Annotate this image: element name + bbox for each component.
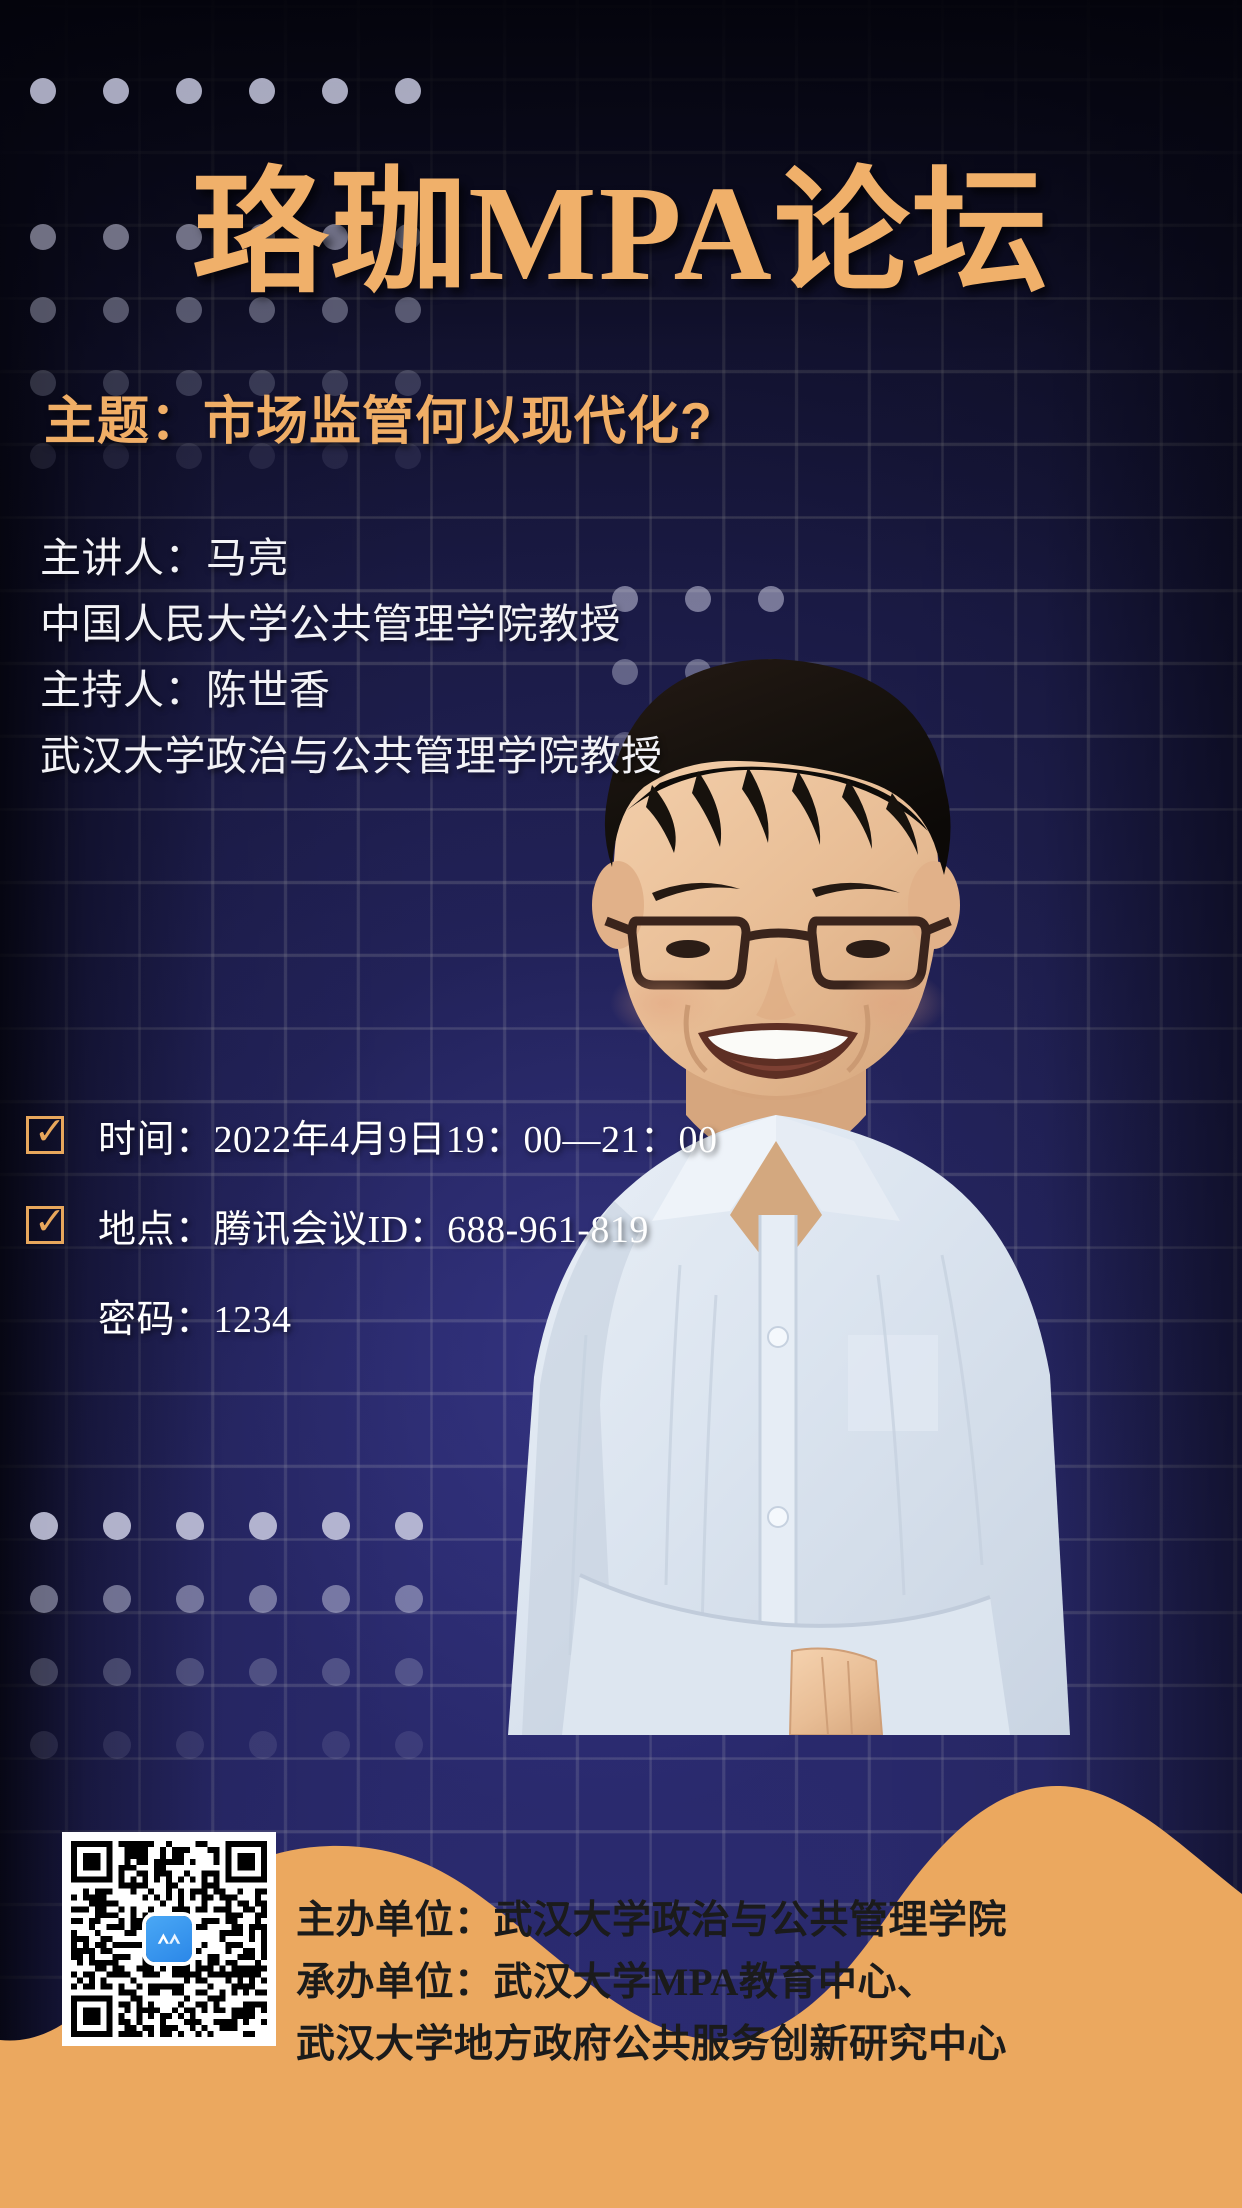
decorative-dot: [176, 78, 202, 104]
tencent-meeting-logo-icon: [146, 1916, 192, 1962]
detail-row-time: ✓ 时间：2022年4月9日19：00—21：00: [26, 1090, 718, 1180]
detail-password-text: 密码：1234: [98, 1288, 292, 1343]
check-mark-icon: ✓: [34, 1113, 66, 1151]
decorative-dot: [30, 78, 56, 104]
speaker-name-line: 主讲人：马亮: [40, 525, 663, 591]
detail-time-text: 时间：2022年4月9日19：00—21：00: [98, 1108, 718, 1163]
decorative-dot: [249, 1512, 277, 1540]
details-block: ✓ 时间：2022年4月9日19：00—21：00 ✓ 地点：腾讯会议ID：68…: [26, 1090, 718, 1360]
checkbox-checked-icon: ✓: [26, 1206, 64, 1244]
event-poster: 珞珈MPA论坛 主题：市场监管何以现代化? 主讲人：马亮 中国人民大学公共管理学…: [0, 0, 1242, 2208]
decorative-dot: [322, 78, 348, 104]
co-organizer-line-1: 承办单位：武汉大学MPA教育中心、: [296, 1952, 1196, 2014]
decorative-dot: [176, 1512, 204, 1540]
decorative-dot: [249, 78, 275, 104]
decorative-dot: [103, 78, 129, 104]
checkbox-checked-icon: ✓: [26, 1116, 64, 1154]
organizer-line: 主办单位：武汉大学政治与公共管理学院: [296, 1890, 1196, 1952]
checkbox-placeholder: [26, 1296, 64, 1334]
decorative-dot: [322, 1512, 350, 1540]
detail-location-text: 地点：腾讯会议ID：688-961-819: [98, 1198, 649, 1253]
speaker-affiliation-line: 中国人民大学公共管理学院教授: [40, 591, 663, 657]
check-mark-icon: ✓: [34, 1203, 66, 1241]
decorative-dot: [395, 78, 421, 104]
host-name-line: 主持人：陈世香: [40, 657, 663, 723]
poster-title: 珞珈MPA论坛: [0, 160, 1242, 310]
organizer-block: 主办单位：武汉大学政治与公共管理学院 承办单位：武汉大学MPA教育中心、 武汉大…: [296, 1890, 1196, 2076]
co-organizer-line-2: 武汉大学地方政府公共服务创新研究中心: [296, 2014, 1196, 2076]
decorative-dot: [30, 1512, 58, 1540]
detail-row-password: 密码：1234: [26, 1270, 718, 1360]
detail-row-location: ✓ 地点：腾讯会议ID：688-961-819: [26, 1180, 718, 1270]
people-block: 主讲人：马亮 中国人民大学公共管理学院教授 主持人：陈世香 武汉大学政治与公共管…: [40, 525, 663, 789]
host-affiliation-line: 武汉大学政治与公共管理学院教授: [40, 723, 663, 789]
qr-code[interactable]: [62, 1832, 276, 2046]
poster-theme: 主题：市场监管何以现代化?: [44, 379, 713, 454]
decorative-dot: [395, 1512, 423, 1540]
decorative-dot: [103, 1512, 131, 1540]
